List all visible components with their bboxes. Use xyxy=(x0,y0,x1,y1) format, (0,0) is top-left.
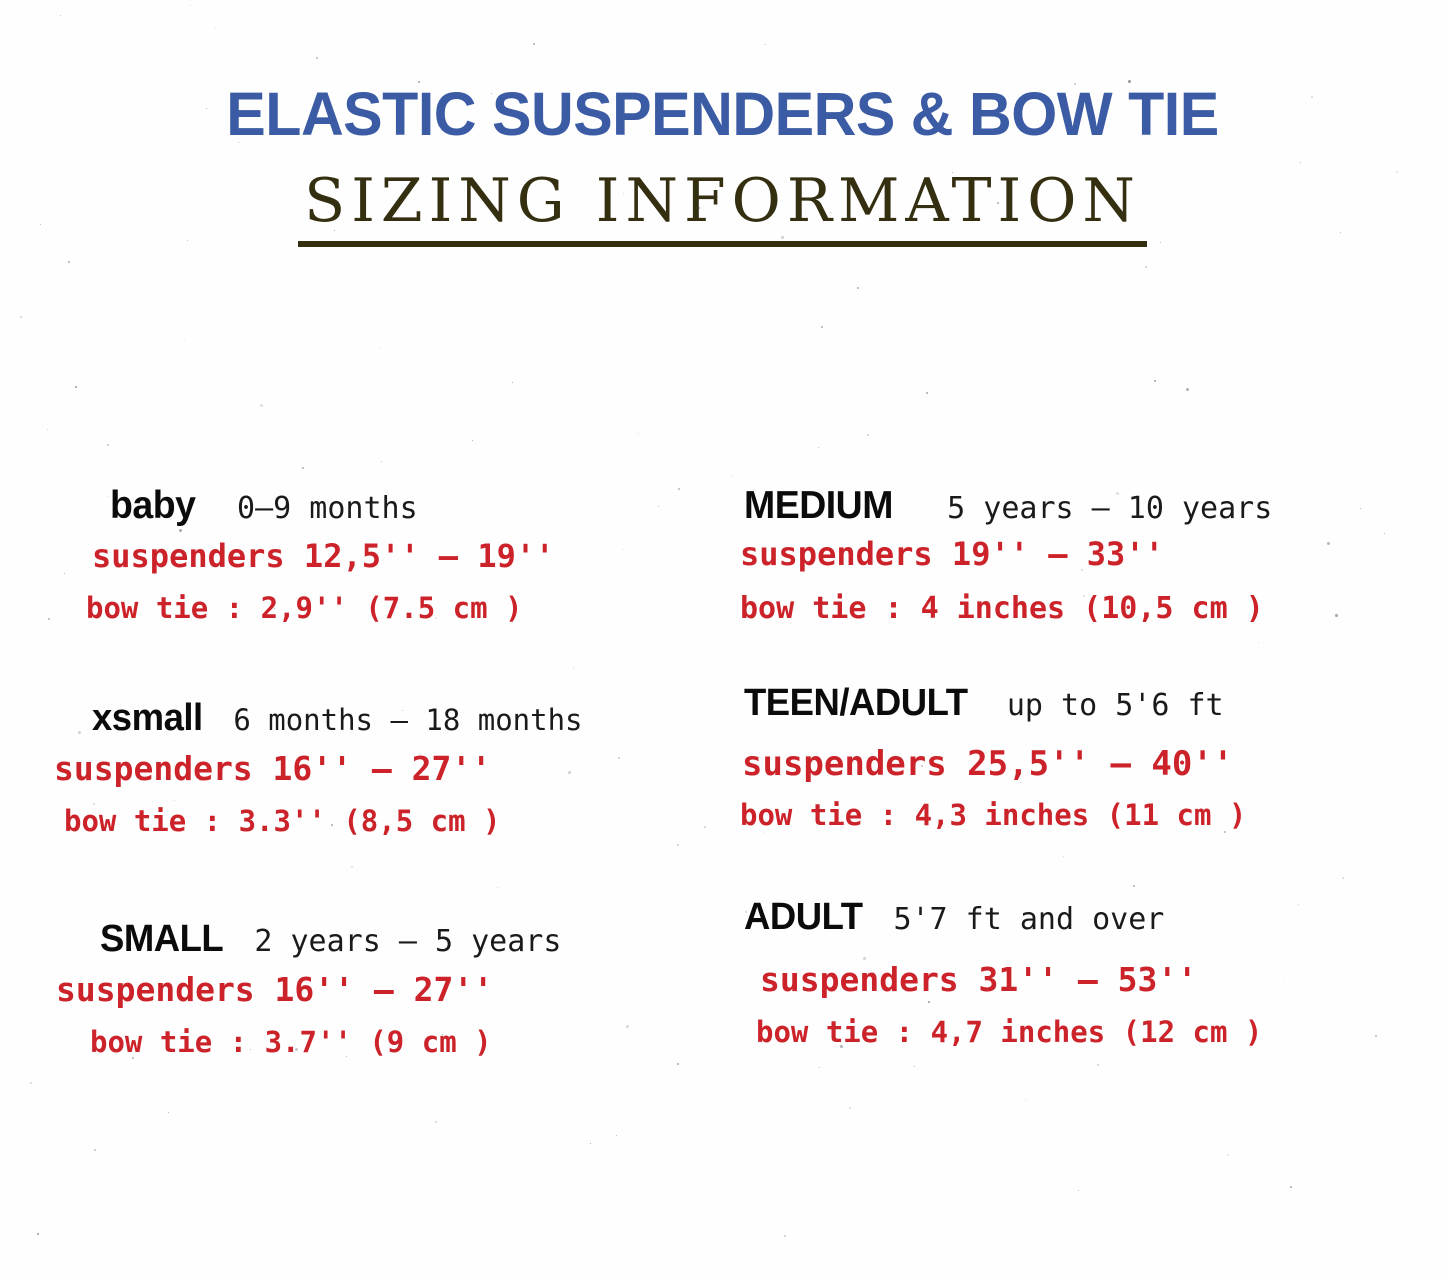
suspenders-measurement: suspenders 19'' – 33'' xyxy=(740,538,1444,570)
sizing-chart-page: ELASTIC SUSPENDERS & BOW TIE SIZING INFO… xyxy=(0,0,1445,1278)
size-label: ADULT xyxy=(744,896,863,939)
size-column-right: MEDIUM 5 years – 10 years suspenders 19'… xyxy=(722,484,1444,1057)
size-label: MEDIUM xyxy=(744,484,893,528)
spacer xyxy=(744,624,1444,682)
age-range: 0–9 months xyxy=(237,491,418,526)
bowtie-measurement: bow tie : 4,7 inches (12 cm ) xyxy=(756,1018,1444,1047)
suspenders-measurement: suspenders 16'' – 27'' xyxy=(56,973,722,1006)
bowtie-measurement: bow tie : 3.3'' (8,5 cm ) xyxy=(64,807,722,836)
size-header-row: MEDIUM 5 years – 10 years xyxy=(744,484,1444,528)
size-label: xsmall xyxy=(92,697,203,740)
size-label: TEEN/ADULT xyxy=(744,682,968,725)
size-block-medium: MEDIUM 5 years – 10 years suspenders 19'… xyxy=(744,484,1444,624)
age-range: 2 years – 5 years xyxy=(254,924,561,959)
page-subtitle: SIZING INFORMATION xyxy=(298,171,1147,247)
bowtie-measurement: bow tie : 4 inches (10,5 cm ) xyxy=(740,594,1444,624)
size-header-row: xsmall 6 months – 18 months xyxy=(92,697,722,740)
spacer xyxy=(744,830,1444,896)
size-label: SMALL xyxy=(100,918,223,961)
size-grid: baby 0–9 months suspenders 12,5'' – 19''… xyxy=(0,484,1445,1057)
bowtie-measurement: bow tie : 2,9'' (7.5 cm ) xyxy=(86,594,722,623)
size-block-baby: baby 0–9 months suspenders 12,5'' – 19''… xyxy=(92,484,722,623)
suspenders-measurement: suspenders 25,5'' – 40'' xyxy=(742,747,1444,781)
subtitle-row: SIZING INFORMATION xyxy=(0,171,1445,247)
age-range: up to 5'6 ft xyxy=(1007,688,1224,723)
size-block-adult: ADULT 5'7 ft and over suspenders 31'' – … xyxy=(744,896,1444,1047)
age-range: 6 months – 18 months xyxy=(233,703,582,737)
age-range: 5 years – 10 years xyxy=(947,491,1272,526)
suspenders-measurement: suspenders 31'' – 53'' xyxy=(760,963,1444,996)
size-block-small: SMALL 2 years – 5 years suspenders 16'' … xyxy=(92,918,722,1057)
suspenders-measurement: suspenders 16'' – 27'' xyxy=(54,752,722,785)
page-title: ELASTIC SUSPENDERS & BOW TIE xyxy=(22,84,1424,145)
size-header-row: ADULT 5'7 ft and over xyxy=(744,896,1444,939)
size-block-xsmall: xsmall 6 months – 18 months suspenders 1… xyxy=(92,697,722,836)
spacer xyxy=(92,623,722,697)
size-label: baby xyxy=(110,484,195,528)
size-header-row: SMALL 2 years – 5 years xyxy=(92,918,722,961)
size-block-teen-adult: TEEN/ADULT up to 5'6 ft suspenders 25,5'… xyxy=(744,682,1444,830)
size-column-left: baby 0–9 months suspenders 12,5'' – 19''… xyxy=(0,484,722,1057)
suspenders-measurement: suspenders 12,5'' – 19'' xyxy=(92,540,722,572)
spacer xyxy=(92,836,722,918)
bowtie-measurement: bow tie : 4,3 inches (11 cm ) xyxy=(740,801,1444,830)
age-range: 5'7 ft and over xyxy=(893,902,1164,937)
bowtie-measurement: bow tie : 3.7'' (9 cm ) xyxy=(90,1028,722,1057)
size-header-row: TEEN/ADULT up to 5'6 ft xyxy=(744,682,1444,725)
size-header-row: baby 0–9 months xyxy=(92,484,722,528)
chart-header: ELASTIC SUSPENDERS & BOW TIE SIZING INFO… xyxy=(0,0,1445,247)
